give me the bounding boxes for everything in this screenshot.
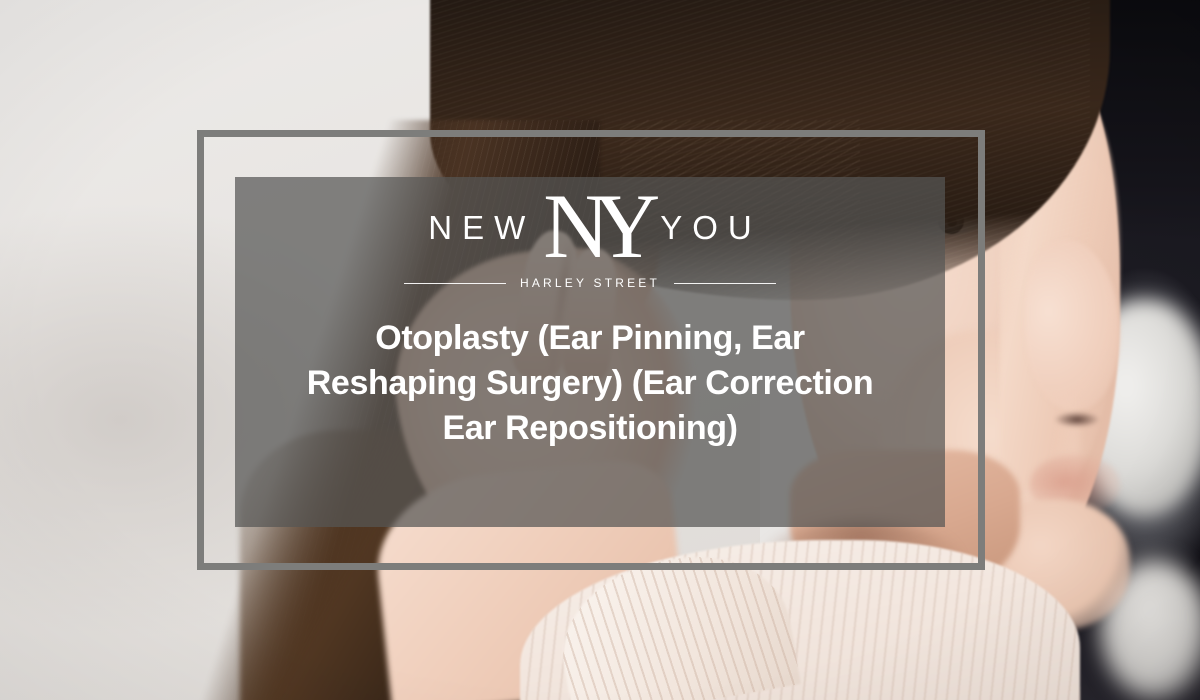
page-title-line-2: Reshaping Surgery) (Ear Correction [245,361,935,406]
logo-word-new: NEW [418,211,535,246]
brand-logo: NEW NY YOU HARLEY STREET [235,190,945,290]
logo-tagline: HARLEY STREET [520,276,660,290]
logo-tagline-row: HARLEY STREET [235,276,945,290]
hero-banner: NEW NY YOU HARLEY STREET Otoplasty (Ear … [0,0,1200,700]
page-title-line-3: Ear Repositioning) [245,406,935,451]
logo-word-you: YOU [650,211,762,246]
logo-monogram-ny: NY [543,180,644,272]
page-title-line-1: Otoplasty (Ear Pinning, Ear [245,316,935,361]
tagline-rule-left [404,283,506,284]
logo-wordmark: NEW NY YOU [235,190,945,266]
nostril [1055,412,1099,427]
tagline-rule-right [674,283,776,284]
page-title: Otoplasty (Ear Pinning, Ear Reshaping Su… [245,316,935,452]
